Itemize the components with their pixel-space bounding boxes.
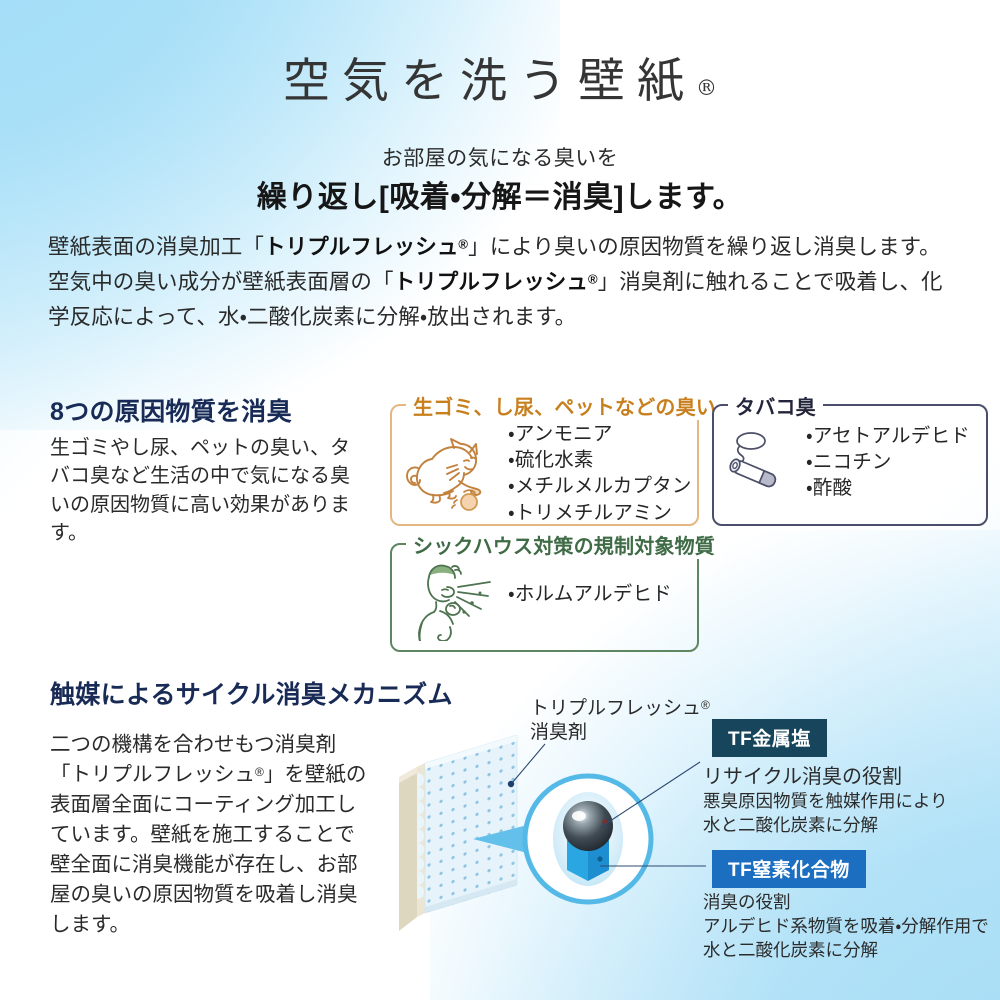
odor-box-tobacco-items: ・アセトアルデヒド ・ニコチン ・酢酸 (806, 423, 970, 502)
tf-metal-salt-description: 悪臭原因物質を触媒作用により 水と二酸化炭素に分解 (703, 789, 948, 837)
section1-heading: 8つの原因物質を消臭 (50, 392, 292, 428)
section2-body-text: 二つの機構を合わせもつ消臭剤「トリプルフレッシュ®」を壁紙の表面層全面にコーティ… (50, 730, 370, 939)
sneezing-person-icon (406, 557, 502, 646)
lead-part-1: 壁紙表面の消臭加工「 (48, 235, 264, 259)
odor-box-pet-legend: 生ゴミ、し尿、ペットなどの臭い (406, 391, 723, 420)
list-item: ・ホルムアルデヒド (508, 581, 672, 607)
list-item: ・メチルメルカプタン (508, 473, 692, 499)
list-item: ・ニコチン (806, 449, 970, 475)
list-item: ・アセトアルデヒド (806, 423, 970, 449)
label-triple-fresh-line1: トリプルフレッシュ® (530, 697, 710, 721)
registered-mark-icon: ® (588, 271, 598, 286)
registered-mark-icon: ® (701, 698, 710, 712)
tf-metal-salt-desc-line2: 水と二酸化炭素に分解 (703, 813, 948, 837)
odor-box-sickhouse-items: ・ホルムアルデヒド (508, 581, 672, 607)
odor-box-pet: 生ゴミ、し尿、ペットなどの臭い (390, 404, 699, 526)
odor-box-sickhouse-legend: シックハウス対策の規制対象物質 (406, 530, 722, 559)
tf-nitrogen-description: 消臭の役割 アルデヒド系物質を吸着・分解作用で 水と二酸化炭素に分解 (703, 890, 989, 962)
odor-box-tobacco: タバコ臭 ・アセト (712, 404, 988, 526)
lead-brand-2: トリプルフレッシュ (394, 270, 588, 294)
list-item: ・硫化水素 (508, 447, 692, 473)
label-triple-fresh-deodorizer: トリプルフレッシュ® 消臭剤 (530, 697, 710, 746)
page-title-text: 空気を洗う壁紙 (283, 54, 696, 109)
label-triple-fresh-line2: 消臭剤 (530, 721, 710, 745)
odor-box-sickhouse: シックハウス対策の規制対象物質 (390, 543, 699, 652)
badge-tf-nitrogen-compound: TF窒素化合物 (712, 850, 866, 888)
page-title: 空気を洗う壁紙® (0, 42, 1000, 111)
tf-nitrogen-desc-line2: 水と二酸化炭素に分解 (703, 938, 989, 962)
tf-metal-salt-desc-line1: 悪臭原因物質を触媒作用により (703, 789, 948, 813)
tf-nitrogen-desc-line1: アルデヒド系物質を吸着・分解作用で (703, 914, 989, 938)
lead-paragraph: 壁紙表面の消臭加工「トリプルフレッシュ®」により臭いの原因物質を繰り返し消臭しま… (48, 230, 952, 334)
section2-heading: 触媒によるサイクル消臭メカニズム (50, 675, 453, 711)
tf-metal-salt-role: リサイクル消臭の役割 (703, 760, 902, 789)
registered-mark-icon: ® (696, 76, 717, 100)
subtitle-line-2: 繰り返し[吸着・分解＝消臭]します。 (0, 172, 1000, 216)
tf-nitrogen-role: 消臭の役割 (703, 890, 989, 914)
page-root: 空気を洗う壁紙® お部屋の気になる臭いを 繰り返し[吸着・分解＝消臭]します。 … (0, 0, 1000, 1000)
list-item: ・トリメチルアミン (508, 500, 692, 526)
odor-box-pet-items: ・アンモニア ・硫化水素 ・メチルメルカプタン ・トリメチルアミン (508, 421, 692, 526)
badge-tf-metal-salt: TF金属塩 (712, 719, 827, 757)
list-item: ・アンモニア (508, 421, 692, 447)
registered-mark-icon: ® (458, 237, 468, 252)
label-triple-fresh-text: トリプルフレッシュ (530, 698, 701, 719)
deodorizer-mechanism-diagram (395, 735, 695, 975)
section1-body-text: 生ゴミやし尿、ペットの臭い、タバコ臭など生活の中で気になる臭いの原因物質に高い効… (50, 434, 350, 548)
list-item: ・酢酸 (806, 475, 970, 501)
section2-body-part-2: 」を壁紙の表面層全面にコーティング加工しています。壁紙を施工することで壁全面に消… (50, 763, 366, 936)
cat-playing-icon (402, 426, 506, 517)
lead-brand-1: トリプルフレッシュ (264, 235, 458, 259)
registered-mark-icon: ® (255, 765, 264, 779)
odor-box-tobacco-legend: タバコ臭 (728, 391, 823, 420)
subtitle-line-1: お部屋の気になる臭いを (0, 142, 1000, 172)
cigarette-icon (720, 428, 802, 509)
section2-body-brand: トリプルフレッシュ (71, 763, 256, 786)
